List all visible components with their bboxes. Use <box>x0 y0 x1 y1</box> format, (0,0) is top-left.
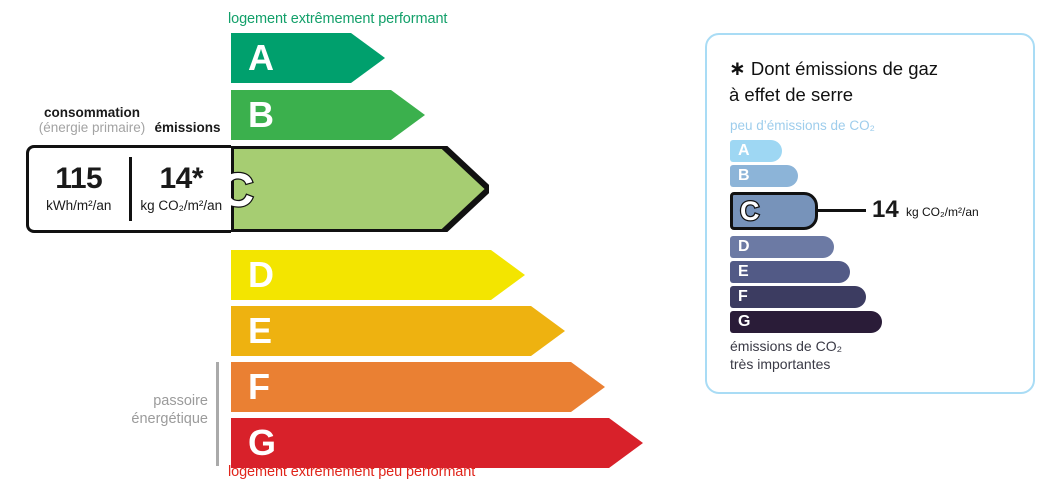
co2-bar-letter-b: B <box>738 168 750 184</box>
consommation-value-cell: 115 kWh/m²/an <box>29 148 129 230</box>
energy-bar-letter-a: A <box>248 40 274 76</box>
co2-bar-letter-c: C <box>740 198 760 225</box>
co2-bar-letter-e: E <box>738 264 749 280</box>
co2-bar-letter-f: F <box>738 289 748 305</box>
co2-bar-letter-a: A <box>738 143 750 159</box>
co2-bars: ABCDEFG <box>0 0 1059 488</box>
co2-bottom-caption-line1: émissions de CO₂ <box>730 338 842 354</box>
co2-bar-letter-g: G <box>738 314 750 330</box>
co2-bar-c: C <box>730 192 818 230</box>
co2-bar-letter-d: D <box>738 239 750 255</box>
co2-bar-b: B <box>730 165 798 187</box>
co2-bar-g: G <box>730 311 882 333</box>
co2-bar-d: D <box>730 236 834 258</box>
co2-leader-line <box>818 209 866 212</box>
co2-bar-e: E <box>730 261 850 283</box>
value-box: 115 kWh/m²/an 14* kg CO₂/m²/an <box>26 145 231 233</box>
emissions-unit: kg CO₂/m²/an <box>140 198 222 214</box>
co2-unit: kg CO₂/m²/an <box>906 205 979 219</box>
energy-bar-letter-f: F <box>248 369 270 405</box>
co2-value: 14 <box>872 197 899 223</box>
co2-bottom-caption: émissions de CO₂ très importantes <box>730 337 842 373</box>
energy-bar-letter-b: B <box>248 97 274 133</box>
co2-bar-f: F <box>730 286 866 308</box>
consommation-value: 115 <box>55 164 102 194</box>
consommation-unit: kWh/m²/an <box>46 198 111 214</box>
energy-bar-letter-d: D <box>248 257 274 293</box>
emissions-value: 14* <box>159 164 203 194</box>
emissions-value-cell: 14* kg CO₂/m²/an <box>132 148 232 230</box>
energy-bar-letter-e: E <box>248 313 272 349</box>
co2-bar-a: A <box>730 140 782 162</box>
co2-bottom-caption-line2: très importantes <box>730 356 830 372</box>
energy-bar-letter-g: G <box>248 425 276 461</box>
